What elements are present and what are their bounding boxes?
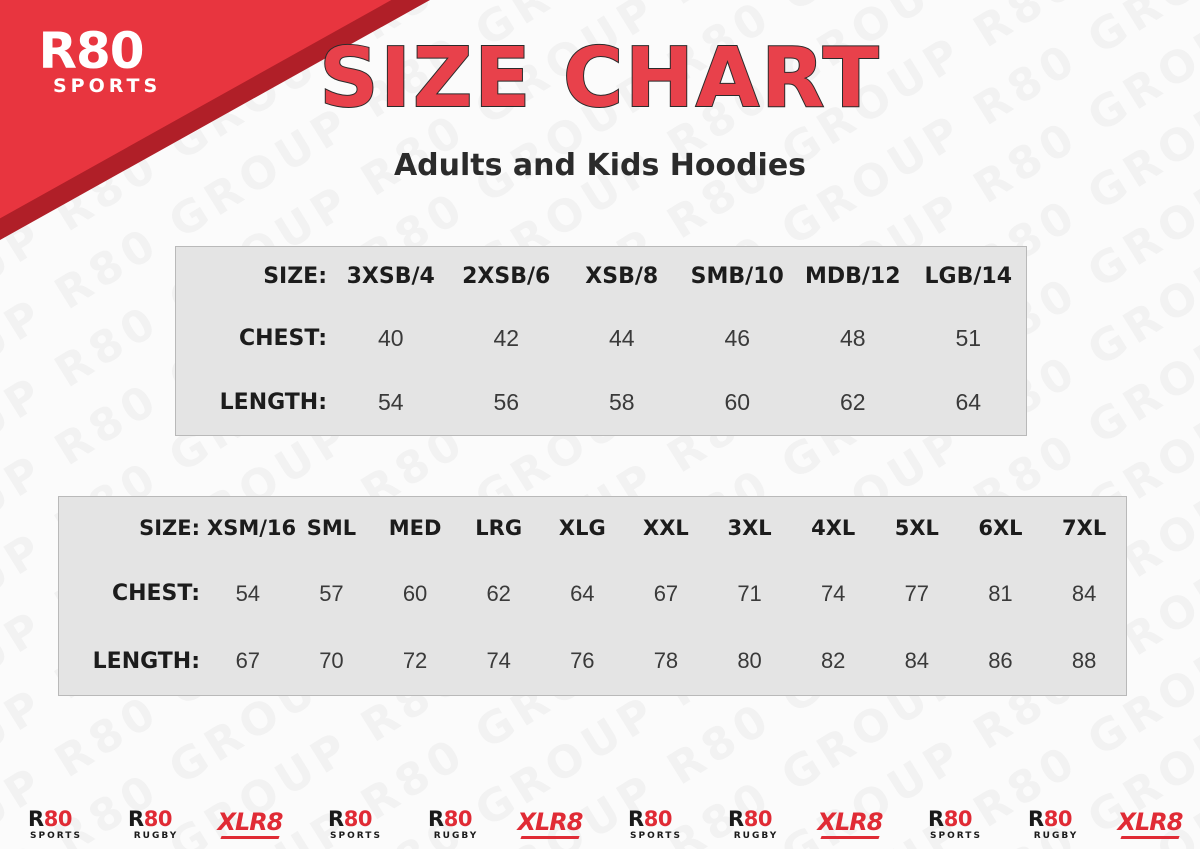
- measurement-cell: 78: [624, 627, 708, 695]
- size-header-cell: 5XL: [875, 497, 959, 560]
- size-header-cell: LGB/14: [911, 247, 1027, 307]
- footer-logo-wordmark: R80: [1008, 809, 1092, 830]
- adults-size-table-grid: SIZE:XSM/16SMLMEDLRGXLGXXL3XL4XL5XL6XL7X…: [59, 497, 1126, 695]
- size-header-cell: MED: [373, 497, 457, 560]
- footer-logo-number-80: 80: [744, 807, 772, 831]
- size-header-cell: 3XSB/4: [333, 247, 449, 307]
- footer-logo-wordmark: XLR8: [508, 810, 592, 834]
- footer-logo-number-80: 80: [944, 807, 972, 831]
- measurement-cell: 80: [708, 627, 792, 695]
- size-header-cell: XXL: [624, 497, 708, 560]
- footer-logo-subtext: SPORTS: [920, 832, 992, 841]
- kids-size-table: SIZE:3XSB/42XSB/6XSB/8SMB/10MDB/12LGB/14…: [175, 246, 1027, 436]
- footer-logo-swoosh: [1120, 836, 1179, 839]
- measurement-cell: 86: [959, 627, 1043, 695]
- measurement-cell: 64: [541, 560, 625, 628]
- measurement-cell: 40: [333, 307, 449, 371]
- measurement-cell: 77: [875, 560, 959, 628]
- measurement-cell: 76: [541, 627, 625, 695]
- footer-logo-r80: R80SPORTS: [308, 809, 392, 841]
- footer-logo-letter-r: R: [628, 807, 644, 831]
- footer-logo-wordmark: R80: [708, 809, 792, 830]
- measurement-cell: 51: [911, 307, 1027, 371]
- footer-logo-letter-r: R: [1028, 807, 1044, 831]
- measurement-cell: 84: [1042, 560, 1126, 628]
- footer-logo-wordmark: R80: [8, 809, 92, 830]
- measurement-cell: 62: [457, 560, 541, 628]
- measurement-cell: 71: [708, 560, 792, 628]
- table-row: CHEST:404244464851: [176, 307, 1026, 371]
- footer-logo-subtext: RUGBY: [720, 832, 792, 841]
- footer-logo-letter-r: R: [328, 807, 344, 831]
- page-title: SIZE CHART: [0, 38, 1200, 120]
- measurement-cell: 88: [1042, 627, 1126, 695]
- footer-logo-subtext: SPORTS: [20, 832, 92, 841]
- table-row: LENGTH:6770727476788082848688: [59, 627, 1126, 695]
- footer-logo-r80: R80SPORTS: [8, 809, 92, 841]
- measurement-cell: 54: [206, 560, 290, 628]
- measurement-cell: 64: [911, 371, 1027, 435]
- footer-logo-r80: R80RUGBY: [708, 809, 792, 841]
- table-row: CHEST:5457606264677174778184: [59, 560, 1126, 628]
- footer-logo-number-80: 80: [444, 807, 472, 831]
- size-header-cell: XSB/8: [564, 247, 680, 307]
- footer-logo-wordmark: XLR8: [808, 810, 892, 834]
- page-subtitle: Adults and Kids Hoodies: [0, 148, 1200, 183]
- measurement-cell: 54: [333, 371, 449, 435]
- measurement-cell: 72: [373, 627, 457, 695]
- footer-logo-xlr8: XLR8: [508, 810, 592, 839]
- table-row: SIZE:XSM/16SMLMEDLRGXLGXXL3XL4XL5XL6XL7X…: [59, 497, 1126, 560]
- row-label: SIZE:: [176, 247, 333, 307]
- footer-logo-xlr8: XLR8: [808, 810, 892, 839]
- size-header-cell: SMB/10: [680, 247, 796, 307]
- footer-logo-wordmark: R80: [908, 809, 992, 830]
- footer-logo-subtext: SPORTS: [320, 832, 392, 841]
- footer-logo-wordmark: XLR8: [1108, 810, 1192, 834]
- footer-logo-r80: R80RUGBY: [408, 809, 492, 841]
- adults-size-table: SIZE:XSM/16SMLMEDLRGXLGXXL3XL4XL5XL6XL7X…: [58, 496, 1127, 696]
- measurement-cell: 67: [206, 627, 290, 695]
- measurement-cell: 81: [959, 560, 1043, 628]
- size-header-cell: XLG: [541, 497, 625, 560]
- row-label: CHEST:: [59, 560, 206, 628]
- size-header-cell: MDB/12: [795, 247, 911, 307]
- footer-logo-subtext: RUGBY: [1020, 832, 1092, 841]
- footer-logo-r80: R80SPORTS: [908, 809, 992, 841]
- footer-logo-number-80: 80: [644, 807, 672, 831]
- footer-logo-r80: R80RUGBY: [108, 809, 192, 841]
- footer-logo-subtext: RUGBY: [420, 832, 492, 841]
- size-header-cell: LRG: [457, 497, 541, 560]
- size-header-cell: 3XL: [708, 497, 792, 560]
- measurement-cell: 44: [564, 307, 680, 371]
- measurement-cell: 74: [791, 560, 875, 628]
- footer-logo-subtext: SPORTS: [620, 832, 692, 841]
- footer-logo-wordmark: R80: [108, 809, 192, 830]
- measurement-cell: 57: [290, 560, 374, 628]
- size-header-cell: 7XL: [1042, 497, 1126, 560]
- measurement-cell: 58: [564, 371, 680, 435]
- row-label: LENGTH:: [176, 371, 333, 435]
- footer-logo-number-80: 80: [344, 807, 372, 831]
- footer-logo-wordmark: R80: [608, 809, 692, 830]
- measurement-cell: 48: [795, 307, 911, 371]
- footer-logo-xlr8: XLR8: [208, 810, 292, 839]
- kids-table-body: SIZE:3XSB/42XSB/6XSB/8SMB/10MDB/12LGB/14…: [176, 247, 1026, 435]
- footer-logo-number-80: 80: [144, 807, 172, 831]
- kids-size-table-grid: SIZE:3XSB/42XSB/6XSB/8SMB/10MDB/12LGB/14…: [176, 247, 1026, 435]
- row-label: CHEST:: [176, 307, 333, 371]
- measurement-cell: 84: [875, 627, 959, 695]
- footer-logo-letter-r: R: [728, 807, 744, 831]
- measurement-cell: 42: [449, 307, 565, 371]
- table-row: SIZE:3XSB/42XSB/6XSB/8SMB/10MDB/12LGB/14: [176, 247, 1026, 307]
- measurement-cell: 56: [449, 371, 565, 435]
- measurement-cell: 62: [795, 371, 911, 435]
- footer-logo-number-80: 80: [44, 807, 72, 831]
- measurement-cell: 67: [624, 560, 708, 628]
- size-header-cell: SML: [290, 497, 374, 560]
- footer-logo-wordmark: R80: [308, 809, 392, 830]
- adults-table-body: SIZE:XSM/16SMLMEDLRGXLGXXL3XL4XL5XL6XL7X…: [59, 497, 1126, 695]
- size-header-cell: XSM/16: [206, 497, 290, 560]
- footer-logo-swoosh: [220, 836, 279, 839]
- measurement-cell: 70: [290, 627, 374, 695]
- footer-logo-xlr8: XLR8: [1108, 810, 1192, 839]
- heading-block: SIZE CHART Adults and Kids Hoodies: [0, 38, 1200, 183]
- size-header-cell: 4XL: [791, 497, 875, 560]
- footer-logo-strip: R80SPORTSR80RUGBYXLR8R80SPORTSR80RUGBYXL…: [0, 800, 1200, 849]
- footer-logo-swoosh: [820, 836, 879, 839]
- footer-logo-r80: R80RUGBY: [1008, 809, 1092, 841]
- row-label: SIZE:: [59, 497, 206, 560]
- footer-logo-number-80: 80: [1044, 807, 1072, 831]
- measurement-cell: 60: [373, 560, 457, 628]
- footer-logo-wordmark: R80: [408, 809, 492, 830]
- footer-logo-letter-r: R: [928, 807, 944, 831]
- footer-logo-wordmark: XLR8: [208, 810, 292, 834]
- footer-logo-r80: R80SPORTS: [608, 809, 692, 841]
- footer-logo-subtext: RUGBY: [120, 832, 192, 841]
- size-header-cell: 2XSB/6: [449, 247, 565, 307]
- footer-logo-letter-r: R: [28, 807, 44, 831]
- footer-logo-letter-r: R: [428, 807, 444, 831]
- measurement-cell: 60: [680, 371, 796, 435]
- measurement-cell: 82: [791, 627, 875, 695]
- footer-logo-swoosh: [520, 836, 579, 839]
- measurement-cell: 46: [680, 307, 796, 371]
- table-row: LENGTH:545658606264: [176, 371, 1026, 435]
- size-header-cell: 6XL: [959, 497, 1043, 560]
- measurement-cell: 74: [457, 627, 541, 695]
- footer-logo-letter-r: R: [128, 807, 144, 831]
- row-label: LENGTH:: [59, 627, 206, 695]
